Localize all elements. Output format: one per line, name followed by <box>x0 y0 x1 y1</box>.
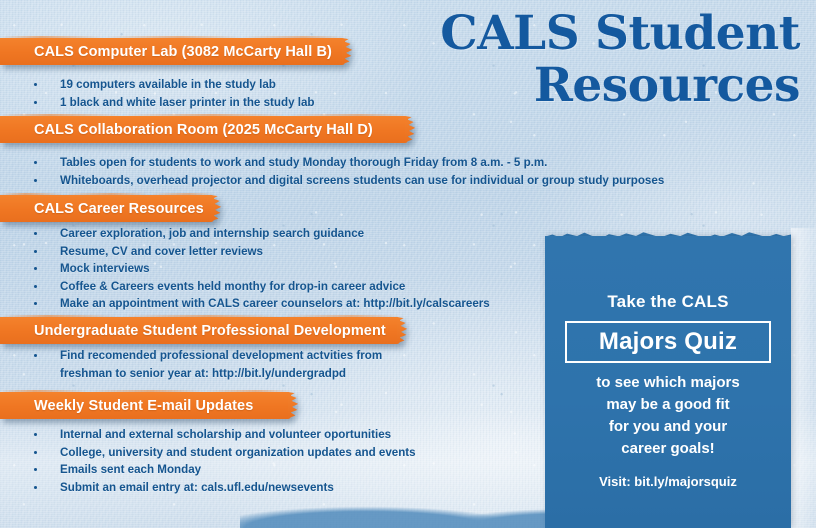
bullet-text: Tables open for students to work and stu… <box>60 156 547 169</box>
panel-right-edge-strip <box>791 228 816 528</box>
majors-quiz-label: Majors Quiz <box>599 328 737 356</box>
bullet-dot-icon <box>34 285 37 288</box>
section-banner: Undergraduate Student Professional Devel… <box>0 317 400 344</box>
bullet-text: Coffee & Careers events held monthy for … <box>60 280 405 293</box>
bullet-dot-icon <box>34 179 37 182</box>
bullet-item: Coffee & Careers events held monthy for … <box>30 278 490 296</box>
page-title: CALS Student Resources <box>360 8 800 112</box>
section-banner-label: CALS Computer Lab (3082 McCarty Hall B) <box>0 44 332 60</box>
section-banner: Weekly Student E-mail Updates <box>0 392 291 419</box>
panel-title: Take the CALS <box>545 292 791 312</box>
bullet-item: Find recomended professional development… <box>30 347 382 365</box>
bullet-item: Mock interviews <box>30 260 490 278</box>
section-banner: CALS Career Resources <box>0 195 214 222</box>
bullet-item: Career exploration, job and internship s… <box>30 225 490 243</box>
majors-quiz-button[interactable]: Majors Quiz <box>565 321 771 363</box>
panel-visit-link: Visit: bit.ly/majorsquiz <box>545 474 791 489</box>
section-bullet-list: Internal and external scholarship and vo… <box>30 426 416 496</box>
section-bullet-list: Career exploration, job and internship s… <box>30 225 490 313</box>
bullet-text: freshman to senior year at: http://bit.l… <box>60 367 346 380</box>
section-bullet-list: 19 computers available in the study lab1… <box>30 76 315 111</box>
section-bullet-list: Find recomended professional development… <box>30 347 382 382</box>
bullet-dot-icon <box>34 302 37 305</box>
bullet-text: 19 computers available in the study lab <box>60 78 276 91</box>
bullet-dot-icon <box>34 267 37 270</box>
bullet-dot-icon <box>34 250 37 253</box>
bullet-text: Make an appointment with CALS career cou… <box>60 297 490 310</box>
bullet-item: Internal and external scholarship and vo… <box>30 426 416 444</box>
section-banner-label: CALS Career Resources <box>0 201 204 217</box>
bullet-text: Mock interviews <box>60 262 150 275</box>
panel-body-line: may be a good fit <box>545 394 791 416</box>
section-banner-label: CALS Collaboration Room (2025 McCarty Ha… <box>0 122 373 138</box>
bullet-item: Emails sent each Monday <box>30 461 416 479</box>
bullet-text: Submit an email entry at: cals.ufl.edu/n… <box>60 481 334 494</box>
bullet-dot-icon <box>34 486 37 489</box>
page-title-line-2: Resources <box>360 60 800 112</box>
panel-body-line: career goals! <box>545 438 791 460</box>
section-banner-label: Undergraduate Student Professional Devel… <box>0 323 386 339</box>
poster-canvas: CALS Student Resources CALS Computer Lab… <box>0 0 816 528</box>
bullet-dot-icon <box>34 451 37 454</box>
section-banner: CALS Collaboration Room (2025 McCarty Ha… <box>0 116 408 143</box>
majors-quiz-panel: Take the CALS Majors Quiz to see which m… <box>545 236 791 528</box>
bullet-dot-icon <box>34 433 37 436</box>
bullet-dot-icon <box>34 232 37 235</box>
bullet-dot-icon <box>34 161 37 164</box>
bullet-text: 1 black and white laser printer in the s… <box>60 96 315 109</box>
bullet-dot-icon <box>34 83 37 86</box>
page-title-line-1: CALS Student <box>440 6 800 61</box>
bullet-text: Emails sent each Monday <box>60 463 201 476</box>
panel-body-text: to see which majorsmay be a good fitfor … <box>545 372 791 460</box>
panel-body-line: to see which majors <box>545 372 791 394</box>
bullet-item: 19 computers available in the study lab <box>30 76 315 94</box>
bullet-item: College, university and student organiza… <box>30 444 416 462</box>
bullet-text: Career exploration, job and internship s… <box>60 227 364 240</box>
bullet-dot-icon <box>34 354 37 357</box>
bullet-text: Find recomended professional development… <box>60 349 382 362</box>
bullet-item: freshman to senior year at: http://bit.l… <box>30 365 382 383</box>
section-banner: CALS Computer Lab (3082 McCarty Hall B) <box>0 38 345 65</box>
bullet-text: College, university and student organiza… <box>60 446 416 459</box>
bullet-dot-icon <box>34 101 37 104</box>
bullet-item: Make an appointment with CALS career cou… <box>30 295 490 313</box>
bullet-dot-icon <box>34 468 37 471</box>
bullet-item: Submit an email entry at: cals.ufl.edu/n… <box>30 479 416 497</box>
section-banner-label: Weekly Student E-mail Updates <box>0 398 253 414</box>
bullet-item: Whiteboards, overhead projector and digi… <box>30 172 664 190</box>
bullet-item: Resume, CV and cover letter reviews <box>30 243 490 261</box>
bullet-item: Tables open for students to work and stu… <box>30 154 664 172</box>
panel-body-line: for you and your <box>545 416 791 438</box>
section-bullet-list: Tables open for students to work and stu… <box>30 154 664 189</box>
bullet-item: 1 black and white laser printer in the s… <box>30 94 315 112</box>
bullet-text: Resume, CV and cover letter reviews <box>60 245 263 258</box>
bullet-text: Whiteboards, overhead projector and digi… <box>60 174 664 187</box>
bullet-text: Internal and external scholarship and vo… <box>60 428 391 441</box>
